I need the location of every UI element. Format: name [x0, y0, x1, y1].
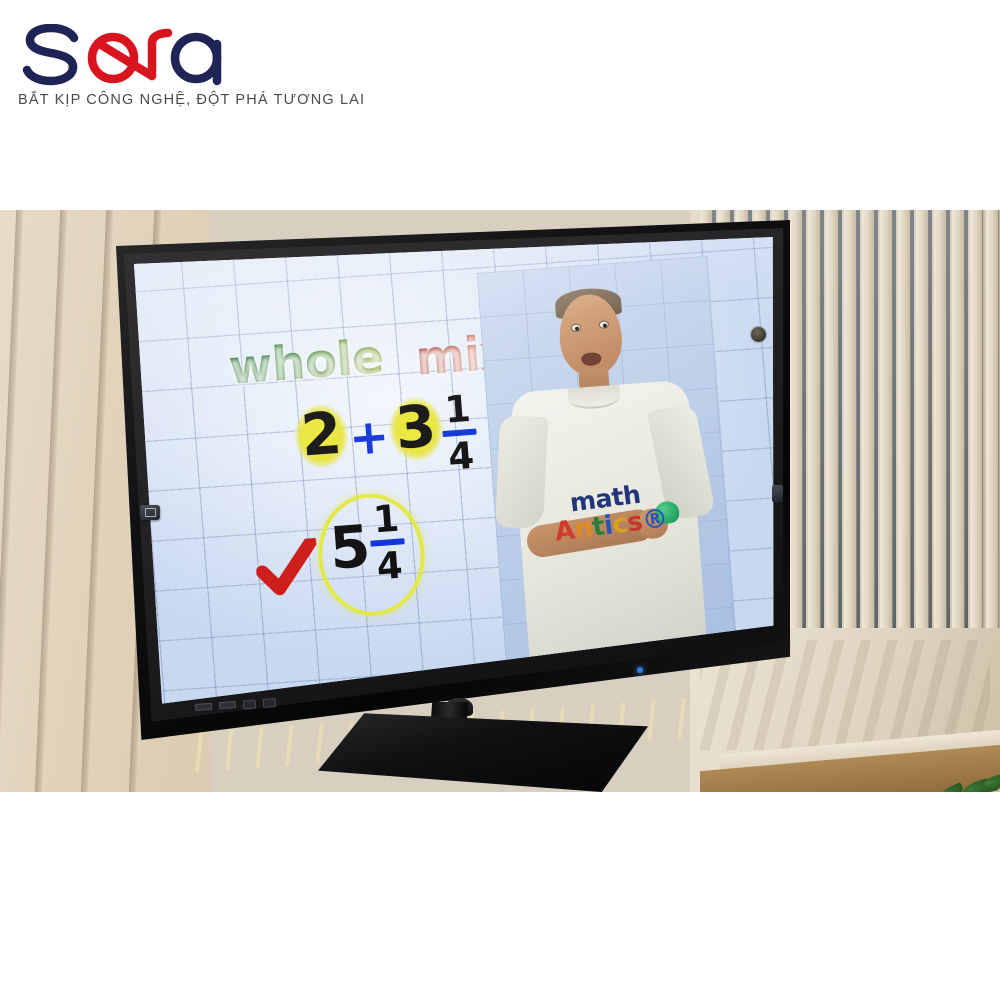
- answer-row: 5 1 4: [327, 505, 408, 588]
- brand-tagline: BẮT KỊP CÔNG NGHỆ, ĐỘT PHÁ TƯƠNG LAI: [18, 92, 365, 108]
- answer-fraction: 1 4: [368, 499, 408, 585]
- brand-header: BẮT KỊP CÔNG NGHỆ, ĐỘT PHÁ TƯƠNG LAI: [0, 0, 1000, 210]
- answer-numerator: 1: [372, 500, 400, 539]
- hdmi-port-2[interactable]: [219, 701, 236, 709]
- sona-logo-svg: [18, 24, 318, 86]
- label-whole: whole: [227, 329, 385, 395]
- usb-port-1[interactable]: [243, 699, 257, 709]
- presenter-video: math Antics®: [477, 256, 738, 672]
- side-port-icon[interactable]: [772, 485, 783, 502]
- product-photo: whole mixed 2 + 3 1 4: [0, 210, 1000, 792]
- interactive-display[interactable]: whole mixed 2 + 3 1 4: [100, 220, 790, 740]
- equation-operator: +: [347, 408, 391, 467]
- camera-lens-icon: [751, 327, 766, 342]
- presenter-sleeve-left: [495, 415, 548, 529]
- power-led-indicator: [637, 667, 643, 673]
- equation-row: 2 + 3 1 4: [294, 396, 479, 487]
- screenshot-root: BẮT KỊP CÔNG NGHỆ, ĐỘT PHÁ TƯƠNG LAI: [0, 0, 1000, 1000]
- equation-first-term: 2: [294, 405, 348, 464]
- answer-whole: 5: [328, 519, 372, 577]
- usb-port-2[interactable]: [263, 698, 277, 708]
- display-badge-icon: [140, 505, 160, 520]
- hdmi-port-1[interactable]: [195, 703, 212, 711]
- equation-numerator: 1: [443, 390, 471, 429]
- check-mark-icon: [254, 538, 320, 598]
- equation-fraction: 1 4: [439, 390, 479, 476]
- bottom-white-band: [0, 792, 1000, 1000]
- answer-denominator: 4: [375, 546, 403, 585]
- sona-logo: [18, 24, 318, 86]
- equation-second-whole: 3: [389, 398, 443, 457]
- equation-denominator: 4: [447, 437, 475, 476]
